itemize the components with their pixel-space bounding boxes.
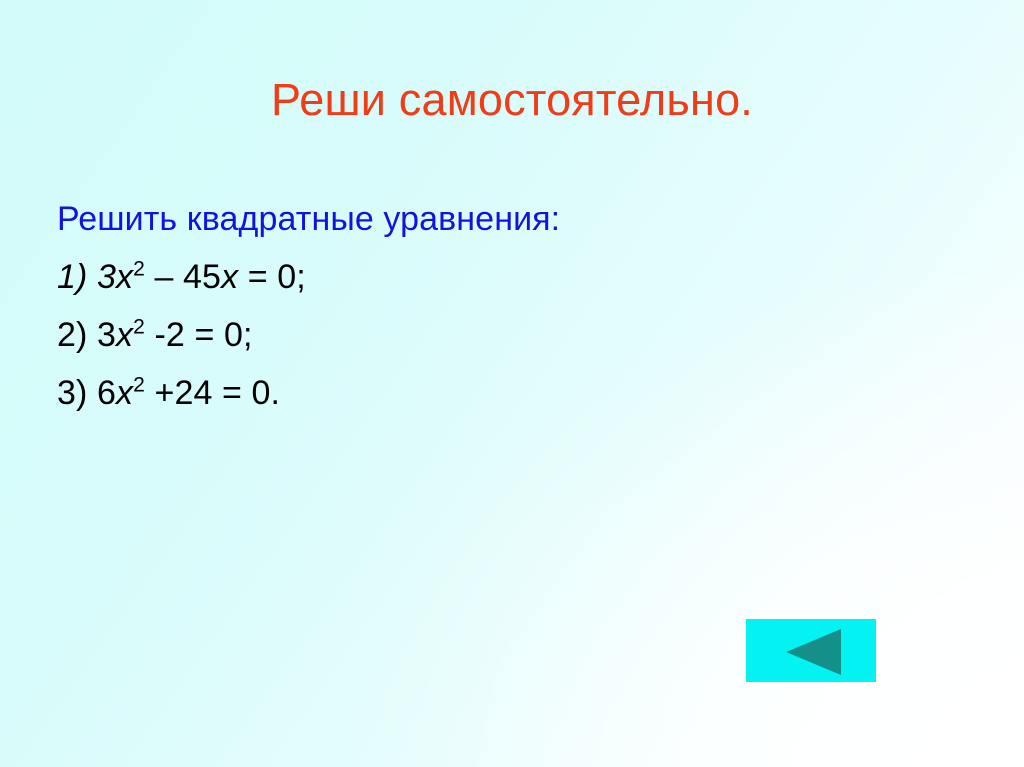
triangle-left-icon — [786, 629, 841, 675]
back-navigation-button[interactable] — [746, 619, 876, 682]
equation-1-coefficient: 3 — [97, 258, 116, 296]
equation-1-exponent: 2 — [133, 258, 145, 281]
equation-line-2: 2) 3x2 -2 = 0; — [57, 306, 937, 364]
equation-1-tail: = 0; — [238, 258, 306, 296]
equation-3-coefficient: 6 — [97, 374, 116, 412]
equation-3-variable: x — [116, 374, 133, 412]
equation-2-exponent: 2 — [133, 316, 145, 339]
equation-1-variable: x — [116, 258, 133, 296]
equation-2-marker: 2) — [57, 316, 87, 354]
equation-1-rest: – 45 — [145, 258, 221, 296]
equation-2-coefficient: 3 — [97, 316, 116, 354]
equation-3-rest: +24 = 0. — [145, 374, 280, 412]
equation-1-marker: 1) — [57, 258, 87, 296]
equation-1-tail-variable: x — [221, 258, 238, 296]
equation-line-1: 1) 3x2 – 45x = 0; — [57, 248, 937, 306]
equation-3-marker: 3) — [57, 374, 87, 412]
equation-line-3: 3) 6x2 +24 = 0. — [57, 364, 937, 422]
task-heading: Решить квадратные уравнения: — [57, 190, 937, 248]
equation-2-rest: -2 = 0; — [145, 316, 253, 354]
page-title: Реши самостоятельно. — [0, 74, 1024, 126]
equation-3-exponent: 2 — [133, 374, 145, 397]
slide-canvas: Реши самостоятельно. Решить квадратные у… — [0, 0, 1024, 767]
equation-2-variable: x — [116, 316, 133, 354]
content-block: Решить квадратные уравнения: 1) 3x2 – 45… — [57, 190, 937, 422]
